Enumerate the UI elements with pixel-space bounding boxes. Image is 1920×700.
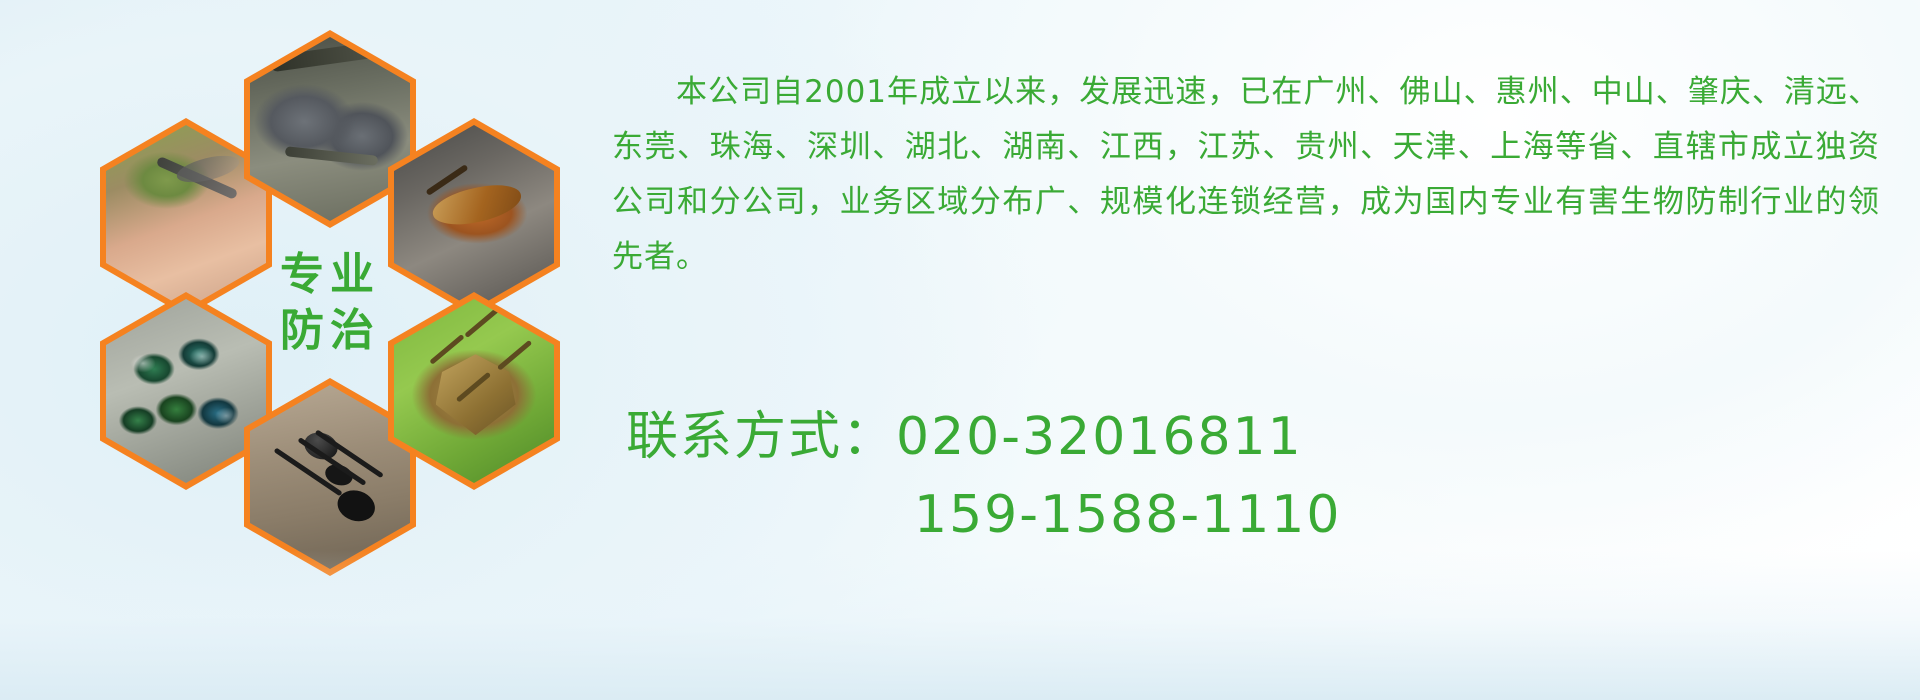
- flies-icon: [106, 299, 266, 483]
- mosquito-icon: [106, 125, 266, 309]
- hex-inner-flies: [106, 299, 266, 483]
- ant-icon: [250, 385, 410, 569]
- hex-inner-mosquito: [106, 125, 266, 309]
- hex-inner-ant: [250, 385, 410, 569]
- stink-bug-icon: [394, 299, 554, 483]
- company-intro-banner: 专业 防治 本公司自2001年成立以来，发展迅速，已在广州、佛山、惠州、中山、肇…: [0, 0, 1920, 700]
- hex-logo-cluster: 专业 防治: [92, 8, 592, 568]
- contact-phone-secondary[interactable]: 159-1588-1110: [626, 476, 1906, 554]
- contact-label: 联系方式：: [626, 407, 896, 467]
- center-slogan-line1: 专业: [280, 247, 380, 303]
- hex-inner-cockroach: [394, 125, 554, 309]
- cockroach-icon: [394, 125, 554, 309]
- center-slogan-line2: 防治: [280, 303, 380, 359]
- contact-phone-primary[interactable]: 020-32016811: [896, 407, 1303, 467]
- intro-text-block: 本公司自2001年成立以来，发展迅速，已在广州、佛山、惠州、中山、肇庆、清远、东…: [612, 34, 1880, 316]
- hex-inner-rats: [250, 37, 410, 221]
- hex-inner-stink-bug: [394, 299, 554, 483]
- intro-paragraph: 本公司自2001年成立以来，发展迅速，已在广州、佛山、惠州、中山、肇庆、清远、东…: [612, 65, 1880, 285]
- contact-block: 联系方式：020-32016811 159-1588-1110: [626, 398, 1906, 554]
- rats-icon: [250, 37, 410, 221]
